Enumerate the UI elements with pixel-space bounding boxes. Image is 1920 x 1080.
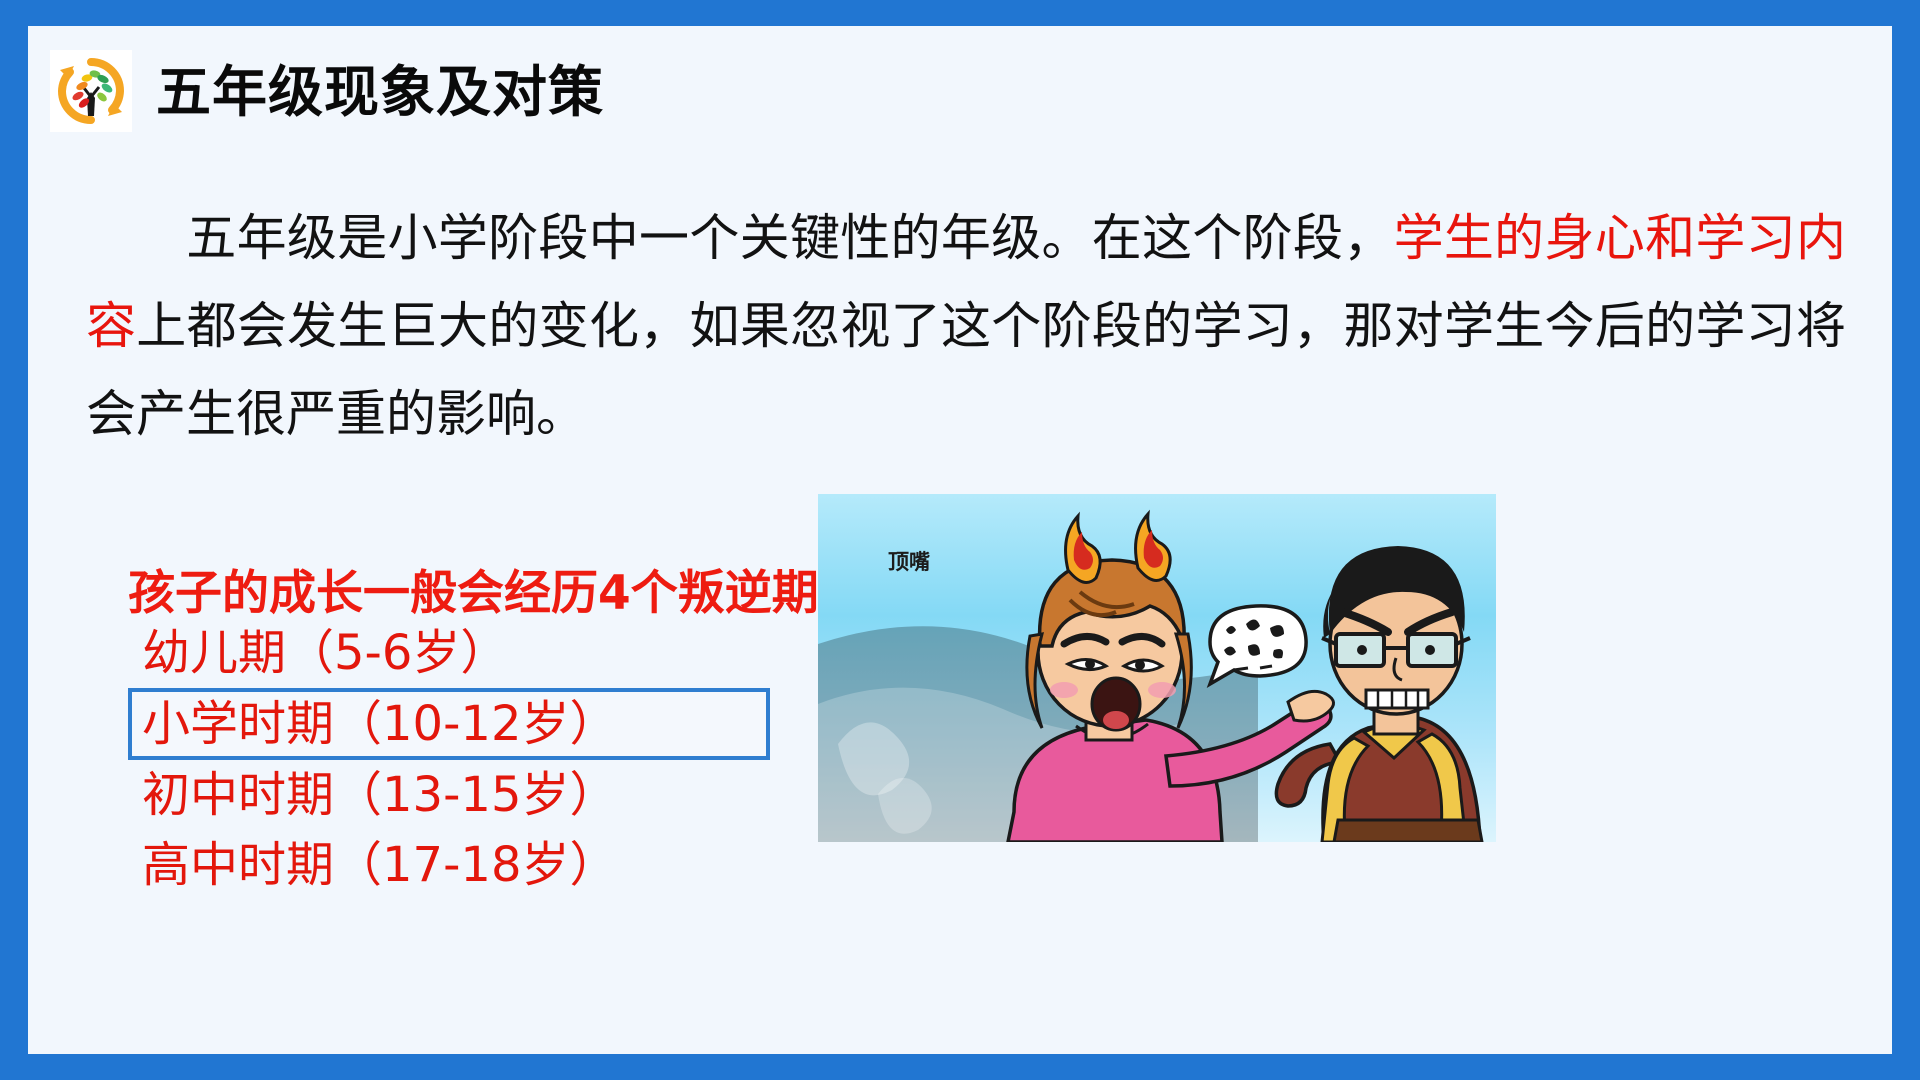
rebellion-period-list: 幼儿期（5-6岁） 小学时期（10-12岁） 初中时期（13-15岁） 高中时期… — [128, 618, 808, 900]
slide-page: 五年级现象及对策 五年级是小学阶段中一个关键性的年级。在这个阶段，学生的身心和学… — [28, 26, 1892, 1054]
paragraph-line2-black: 上都会发生巨大的变化，如果忽视了这个阶段的学习， — [136, 297, 1343, 355]
page-title: 五年级现象及对策 — [156, 56, 604, 128]
paragraph-line1-black: 五年级是小学阶段中一个关键性的年级。在这个阶段， — [186, 209, 1394, 267]
list-item-toddler: 幼儿期（5-6岁） — [128, 618, 808, 688]
slide-root: 五年级现象及对策 五年级是小学阶段中一个关键性的年级。在这个阶段，学生的身心和学… — [0, 0, 1920, 1080]
list-item-high-school: 高中时期（17-18岁） — [128, 830, 808, 900]
section-heading: 孩子的成长一般会经历4个叛逆期： — [128, 554, 866, 623]
intro-paragraph: 五年级是小学阶段中一个关键性的年级。在这个阶段，学生的身心和学习内容上都会发生巨… — [86, 194, 1846, 458]
tree-recycle-logo-icon — [50, 50, 132, 132]
slide-header: 五年级现象及对策 — [28, 26, 1892, 156]
paragraph-line1-red: 学生的身 — [1394, 209, 1595, 267]
cartoon-caption: 顶嘴 — [888, 546, 930, 576]
list-item-middle-school: 初中时期（13-15岁） — [128, 760, 808, 830]
list-item-primary-school-highlighted[interactable]: 小学时期（10-12岁） — [128, 688, 770, 760]
cartoon-illustration: 顶嘴 — [818, 494, 1496, 842]
